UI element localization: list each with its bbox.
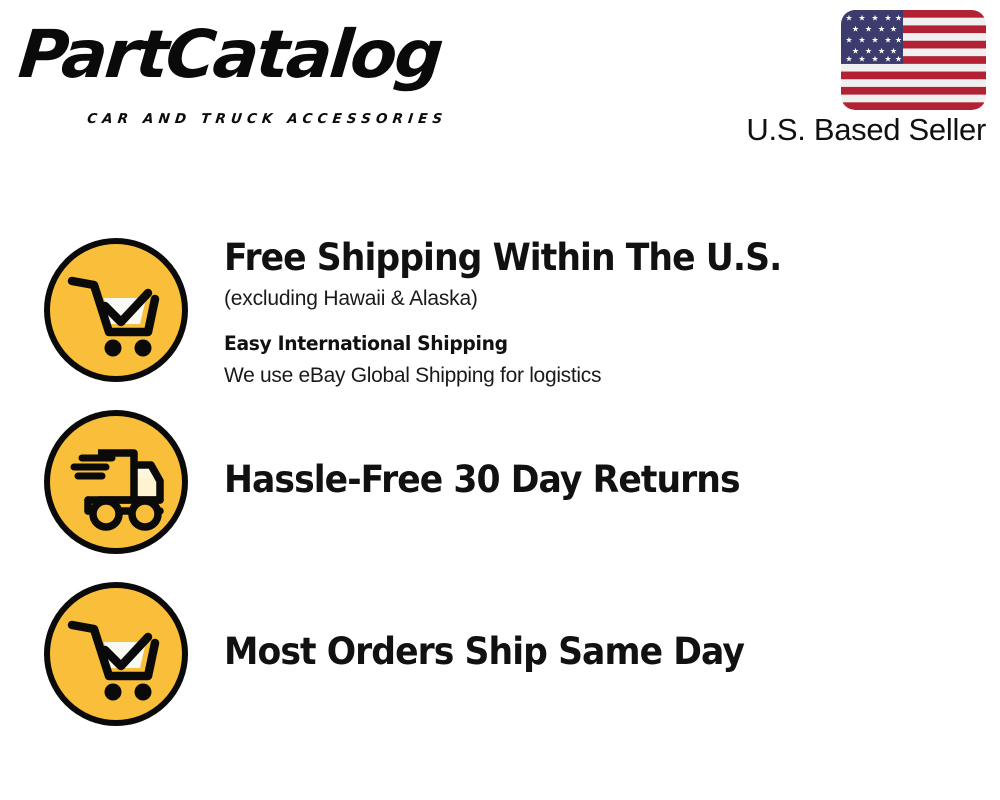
feature-subtext-secondary: We use eBay Global Shipping for logistic… xyxy=(224,362,1000,389)
brand-tagline: CAR AND TRUCK ACCESSORIES xyxy=(86,111,448,127)
feature-text: Most Orders Ship Same Day xyxy=(224,580,1000,672)
feature-heading: Most Orders Ship Same Day xyxy=(224,632,950,672)
feature-text: Free Shipping Within The U.S. (excluding… xyxy=(224,236,1000,389)
feature-row: Free Shipping Within The U.S. (excluding… xyxy=(0,236,1000,389)
feature-subheading: Easy International Shipping xyxy=(224,331,969,356)
feature-row: Most Orders Ship Same Day xyxy=(0,580,1000,728)
brand-logo[interactable]: PartCatalog CAR AND TRUCK ACCESSORIES xyxy=(22,22,492,122)
delivery-truck-icon xyxy=(42,408,190,556)
feature-row: Hassle-Free 30 Day Returns xyxy=(0,408,1000,556)
cart-check-icon xyxy=(42,236,190,384)
feature-subtext: (excluding Hawaii & Alaska) xyxy=(224,285,1000,313)
us-based-seller-label: U.S. Based Seller xyxy=(711,114,986,147)
brand-wordmark: PartCatalog xyxy=(16,22,444,88)
cart-check-icon xyxy=(42,580,190,728)
us-flag-icon xyxy=(841,10,986,110)
feature-heading: Hassle-Free 30 Day Returns xyxy=(224,460,950,500)
feature-text: Hassle-Free 30 Day Returns xyxy=(224,408,1000,500)
feature-heading: Free Shipping Within The U.S. xyxy=(224,238,950,278)
us-based-seller-badge: U.S. Based Seller xyxy=(711,10,986,147)
